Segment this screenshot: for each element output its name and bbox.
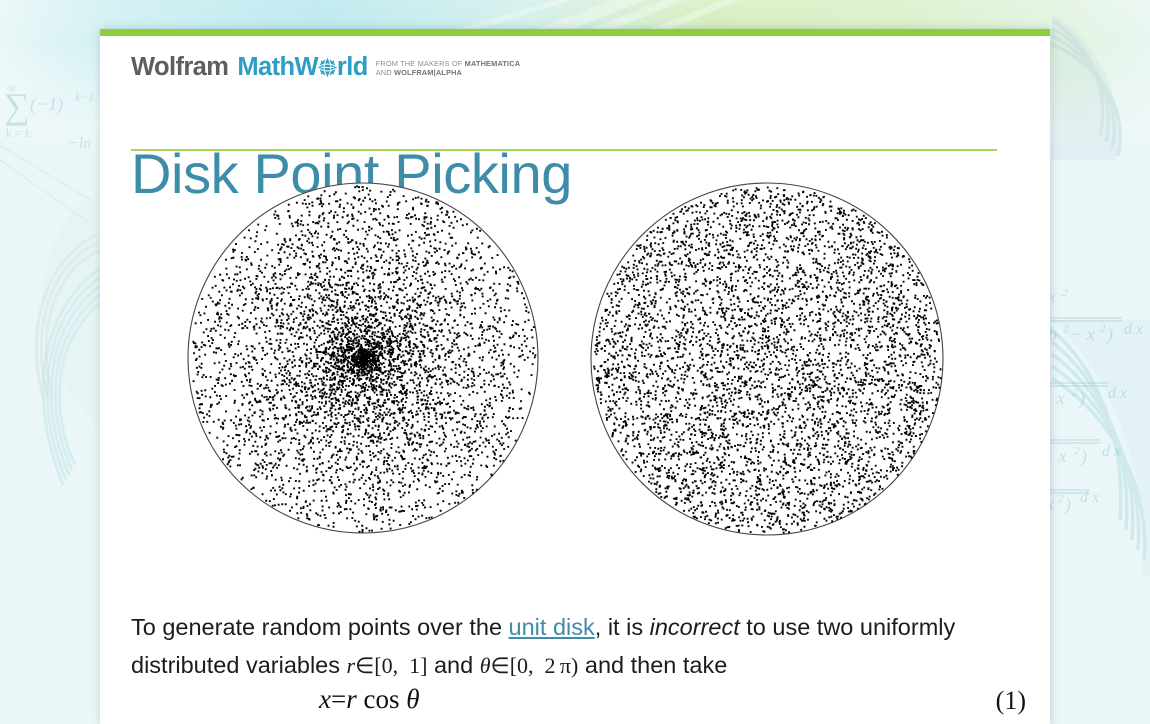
content-card: Wolfram Math W — [100, 29, 1050, 724]
tagline-line-2: AND WOLFRAM|ALPHA — [376, 69, 521, 78]
equation-1-expression: x=r cos θ — [319, 684, 420, 715]
logo-tagline: FROM THE MAKERS OF MATHEMATICA AND WOLFR… — [376, 60, 521, 77]
incorrect-sampling-disk — [187, 182, 539, 534]
math-var-theta: θ — [480, 653, 491, 678]
logo-w-letter: W — [294, 55, 317, 81]
math-member-1: ∈ — [355, 653, 374, 678]
svg-text:∞: ∞ — [7, 81, 16, 95]
body-and: and — [427, 652, 479, 678]
svg-text:): ) — [1078, 388, 1085, 409]
svg-text:d x: d x — [1102, 443, 1121, 460]
svg-text:): ) — [1080, 446, 1087, 467]
body-emphasis-incorrect: incorrect — [650, 614, 740, 640]
logo-wolfram-text: Wolfram — [131, 55, 228, 81]
title-divider — [131, 149, 997, 151]
unit-disk-link[interactable]: unit disk — [509, 614, 595, 640]
correct-sampling-disk — [590, 182, 944, 536]
svg-text:2: 2 — [1062, 287, 1068, 299]
svg-text:k = 1: k = 1 — [6, 126, 30, 140]
svg-text:2: 2 — [1058, 493, 1064, 505]
eq-rhs-var: r — [346, 684, 357, 714]
svg-text:d x: d x — [1108, 385, 1127, 402]
logo-rld-text: rld — [337, 55, 368, 81]
svg-text:): ) — [1106, 324, 1113, 345]
eq-lhs: x — [319, 684, 331, 714]
svg-text:): ) — [1064, 494, 1071, 515]
svg-text:2: 2 — [1063, 323, 1069, 335]
eq-rhs-function: cos — [363, 684, 399, 714]
svg-text:2: 2 — [1100, 323, 1106, 335]
equation-row: x=r cos θ (1) — [131, 684, 1026, 724]
logo-math-text: Math — [237, 55, 294, 81]
svg-text:2: 2 — [1074, 445, 1080, 457]
eq-rhs-argument: θ — [406, 684, 419, 714]
math-range-r: [0, 1] — [374, 653, 427, 678]
math-member-2: ∈ — [491, 653, 510, 678]
svg-text:d x: d x — [1124, 321, 1143, 338]
svg-text:d x: d x — [1080, 489, 1099, 506]
math-var-r: r — [347, 653, 356, 678]
body-seg-4: and then take — [578, 652, 727, 678]
svg-text:(−1): (−1) — [30, 94, 63, 115]
svg-text:k−1: k−1 — [75, 90, 94, 104]
eq-equals: = — [331, 684, 346, 714]
body-paragraph: To generate random points over the unit … — [131, 608, 1011, 686]
svg-text:−ln: −ln — [68, 135, 91, 152]
svg-text:− x: − x — [1070, 324, 1095, 344]
logo-mathworld-text: Math W — [237, 55, 367, 81]
figure-row — [131, 182, 997, 552]
tagline-wolframalpha: WOLFRAM|ALPHA — [394, 68, 462, 77]
svg-text:2: 2 — [1072, 387, 1078, 399]
globe-icon — [318, 57, 337, 76]
mathworld-logo[interactable]: Wolfram Math W — [131, 55, 520, 85]
math-range-theta: [0, 2 π) — [510, 653, 579, 678]
body-seg-1: To generate random points over the — [131, 614, 509, 640]
equation-number: (1) — [996, 686, 1026, 716]
card-accent-bar — [100, 29, 1050, 36]
body-seg-2: , it is — [595, 614, 650, 640]
tagline-mathematica: MATHEMATICA — [465, 59, 521, 68]
